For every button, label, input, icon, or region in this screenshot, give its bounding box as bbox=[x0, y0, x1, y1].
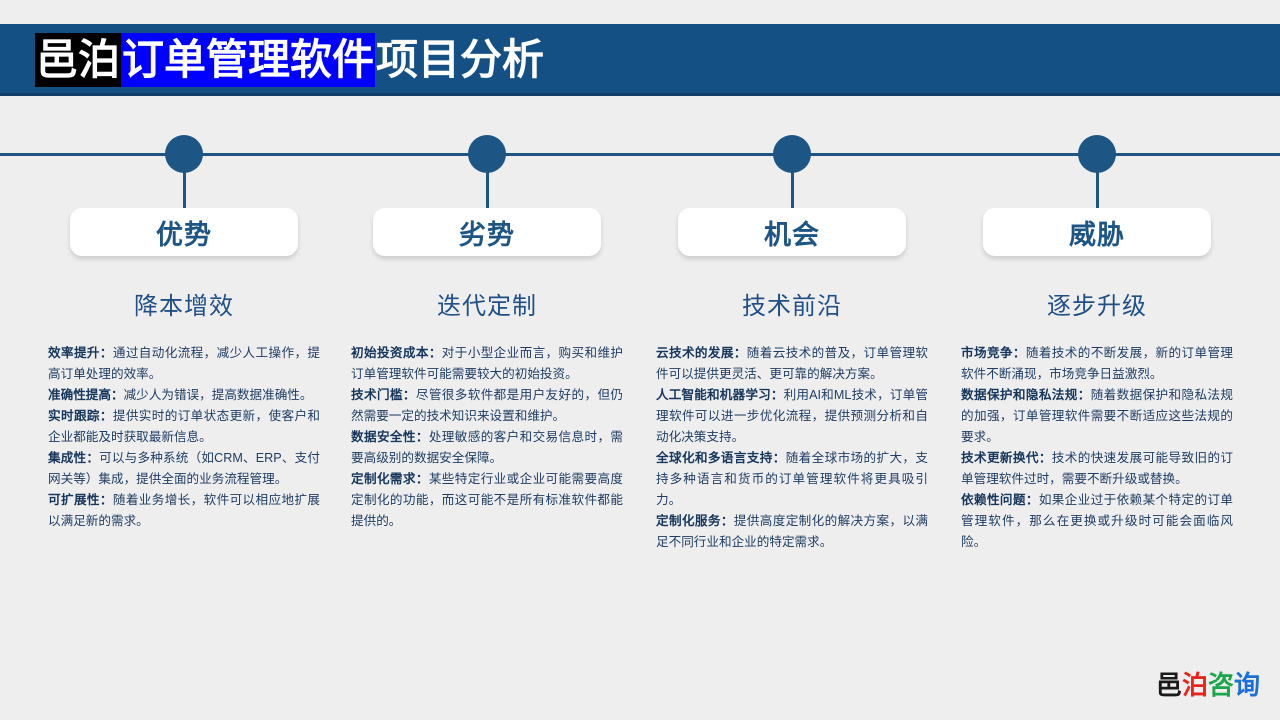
category-card-threats[interactable]: 威胁 bbox=[983, 208, 1211, 256]
brand-char-1: 邑 bbox=[1156, 670, 1182, 700]
column-body: 效率提升：通过自动化流程，减少人工操作，提高订单处理的效率。准确性提高：减少人为… bbox=[48, 343, 320, 532]
bullet-item: 数据安全性：处理敏感的客户和交易信息时，需要高级别的数据安全保障。 bbox=[351, 427, 623, 469]
bullet-item: 技术门槛：尽管很多软件都是用户友好的，但仍然需要一定的技术知识来设置和维护。 bbox=[351, 385, 623, 427]
bullet-lead: 云技术的发展： bbox=[656, 346, 747, 360]
bullet-item: 依赖性问题：如果企业过于依赖某个特定的订单管理软件，那么在更换或升级时可能会面临… bbox=[961, 490, 1233, 553]
column-heading: 逐步升级 bbox=[961, 286, 1233, 321]
bullet-item: 实时跟踪：提供实时的订单状态更新，使客户和企业都能及时获取最新信息。 bbox=[48, 406, 320, 448]
bullet-item: 数据保护和隐私法规：随着数据保护和隐私法规的加强，订单管理软件需要不断适应这些法… bbox=[961, 385, 1233, 448]
category-card-label: 劣势 bbox=[459, 213, 515, 252]
bullet-lead: 人工智能和机器学习： bbox=[656, 388, 784, 402]
timeline-stem-threats bbox=[1096, 172, 1099, 212]
column-heading: 迭代定制 bbox=[351, 286, 623, 321]
title-segment-product: 订单管理软件 bbox=[121, 33, 375, 87]
bullet-lead: 技术更新换代： bbox=[961, 451, 1052, 465]
bullet-item: 初始投资成本：对于小型企业而言，购买和维护订单管理软件可能需要较大的初始投资。 bbox=[351, 343, 623, 385]
timeline-stem-strengths bbox=[183, 172, 186, 212]
bullet-item: 集成性：可以与多种系统（如CRM、ERP、支付网关等）集成，提供全面的业务流程管… bbox=[48, 448, 320, 490]
brand-char-3: 咨 bbox=[1208, 670, 1234, 700]
bullet-lead: 定制化需求： bbox=[351, 472, 429, 486]
bullet-lead: 技术门槛： bbox=[351, 388, 416, 402]
title-segment-topic: 项目分析 bbox=[375, 33, 545, 87]
content-column-opportunities: 技术前沿 云技术的发展：随着云技术的普及，订单管理软件可以提供更灵活、更可靠的解… bbox=[656, 286, 928, 553]
bullet-lead: 依赖性问题： bbox=[961, 493, 1039, 507]
bullet-lead: 准确性提高： bbox=[48, 388, 124, 402]
bullet-item: 定制化服务：提供高度定制化的解决方案，以满足不同行业和企业的特定需求。 bbox=[656, 511, 928, 553]
category-card-weaknesses[interactable]: 劣势 bbox=[373, 208, 601, 256]
bullet-text: 减少人为错误，提高数据准确性。 bbox=[124, 388, 313, 402]
header-bar: 邑泊订单管理软件项目分析 bbox=[0, 24, 1280, 96]
bullet-lead: 数据保护和隐私法规： bbox=[961, 388, 1091, 402]
content-column-weaknesses: 迭代定制 初始投资成本：对于小型企业而言，购买和维护订单管理软件可能需要较大的初… bbox=[351, 286, 623, 532]
brand-logo: 邑泊咨询 bbox=[1156, 665, 1260, 702]
bullet-lead: 市场竞争： bbox=[961, 346, 1026, 360]
timeline-node-threats[interactable] bbox=[1078, 135, 1116, 173]
column-body: 初始投资成本：对于小型企业而言，购买和维护订单管理软件可能需要较大的初始投资。技… bbox=[351, 343, 623, 532]
bullet-item: 人工智能和机器学习：利用AI和ML技术，订单管理软件可以进一步优化流程，提供预测… bbox=[656, 385, 928, 448]
bullet-lead: 效率提升： bbox=[48, 346, 113, 360]
bullet-lead: 可扩展性： bbox=[48, 493, 113, 507]
page-title: 邑泊订单管理软件项目分析 bbox=[35, 24, 545, 96]
category-card-opportunities[interactable]: 机会 bbox=[678, 208, 906, 256]
column-heading: 技术前沿 bbox=[656, 286, 928, 321]
timeline-node-opportunities[interactable] bbox=[773, 135, 811, 173]
column-body: 市场竞争：随着技术的不断发展，新的订单管理软件不断涌现，市场竞争日益激烈。数据保… bbox=[961, 343, 1233, 553]
category-card-strengths[interactable]: 优势 bbox=[70, 208, 298, 256]
bullet-lead: 全球化和多语言支持： bbox=[656, 451, 786, 465]
bullet-item: 云技术的发展：随着云技术的普及，订单管理软件可以提供更灵活、更可靠的解决方案。 bbox=[656, 343, 928, 385]
category-card-label: 威胁 bbox=[1069, 213, 1125, 252]
category-card-label: 优势 bbox=[156, 213, 212, 252]
bullet-item: 效率提升：通过自动化流程，减少人工操作，提高订单处理的效率。 bbox=[48, 343, 320, 385]
timeline-stem-opportunities bbox=[791, 172, 794, 212]
bullet-item: 技术更新换代：技术的快速发展可能导致旧的订单管理软件过时，需要不断升级或替换。 bbox=[961, 448, 1233, 490]
category-card-label: 机会 bbox=[764, 213, 820, 252]
bullet-lead: 初始投资成本： bbox=[351, 346, 442, 360]
column-body: 云技术的发展：随着云技术的普及，订单管理软件可以提供更灵活、更可靠的解决方案。人… bbox=[656, 343, 928, 553]
column-heading: 降本增效 bbox=[48, 286, 320, 321]
bullet-lead: 实时跟踪： bbox=[48, 409, 113, 423]
brand-char-4: 询 bbox=[1234, 670, 1260, 700]
bullet-lead: 数据安全性： bbox=[351, 430, 429, 444]
bullet-item: 市场竞争：随着技术的不断发展，新的订单管理软件不断涌现，市场竞争日益激烈。 bbox=[961, 343, 1233, 385]
title-segment-brand: 邑泊 bbox=[35, 33, 121, 87]
bullet-item: 准确性提高：减少人为错误，提高数据准确性。 bbox=[48, 385, 320, 406]
timeline-stem-weaknesses bbox=[486, 172, 489, 212]
timeline-node-weaknesses[interactable] bbox=[468, 135, 506, 173]
bullet-item: 定制化需求：某些特定行业或企业可能需要高度定制化的功能，而这可能不是所有标准软件… bbox=[351, 469, 623, 532]
brand-char-2: 泊 bbox=[1182, 670, 1208, 700]
bullet-item: 全球化和多语言支持：随着全球市场的扩大，支持多种语言和货币的订单管理软件将更具吸… bbox=[656, 448, 928, 511]
timeline-node-strengths[interactable] bbox=[165, 135, 203, 173]
bullet-lead: 定制化服务： bbox=[656, 514, 734, 528]
content-column-strengths: 降本增效 效率提升：通过自动化流程，减少人工操作，提高订单处理的效率。准确性提高… bbox=[48, 286, 320, 532]
content-column-threats: 逐步升级 市场竞争：随着技术的不断发展，新的订单管理软件不断涌现，市场竞争日益激… bbox=[961, 286, 1233, 553]
bullet-lead: 集成性： bbox=[48, 451, 99, 465]
bullet-item: 可扩展性：随着业务增长，软件可以相应地扩展以满足新的需求。 bbox=[48, 490, 320, 532]
